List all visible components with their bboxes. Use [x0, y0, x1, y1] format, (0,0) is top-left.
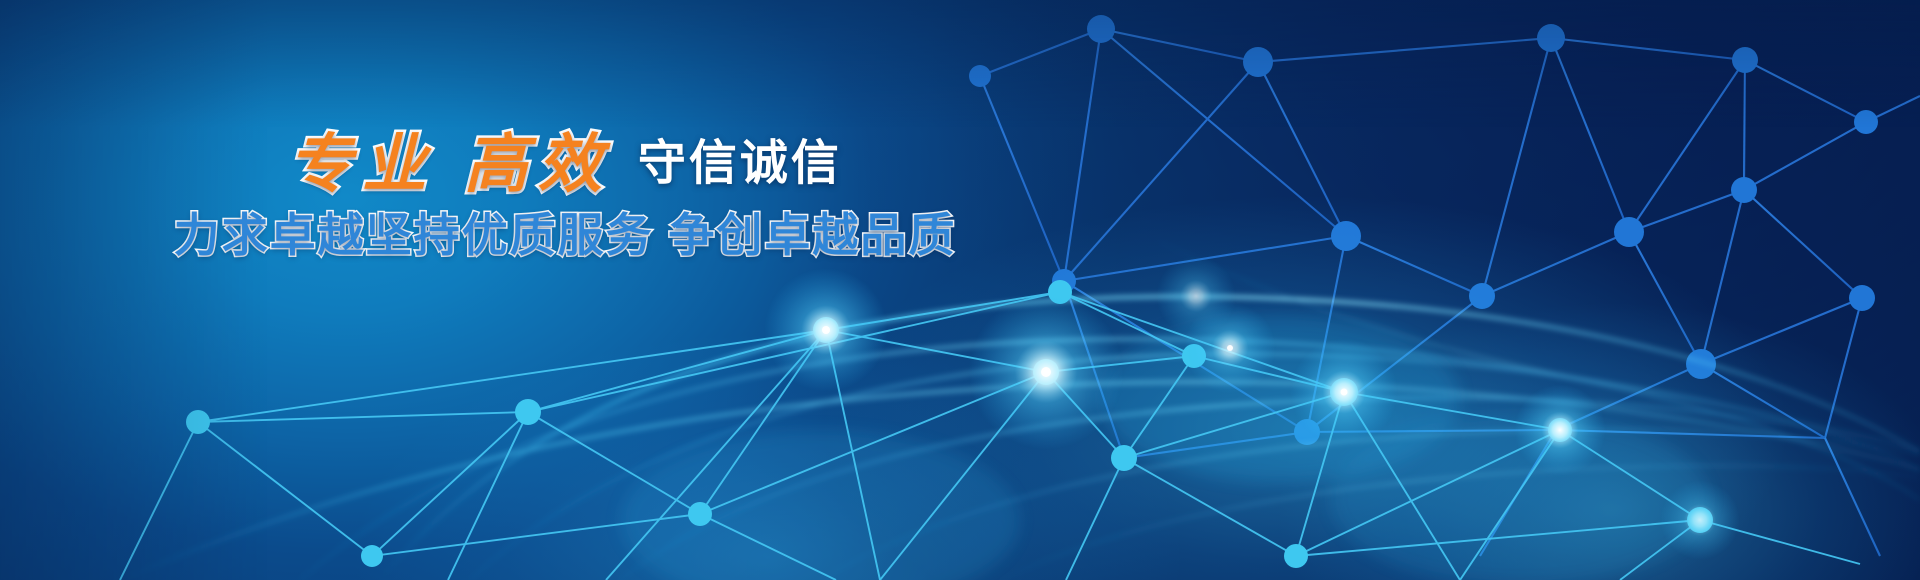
- hero-banner: 专业 高效守信诚信 力求卓越坚持优质服务 争创卓越品质: [0, 0, 1920, 580]
- background-vignette: [0, 0, 1920, 580]
